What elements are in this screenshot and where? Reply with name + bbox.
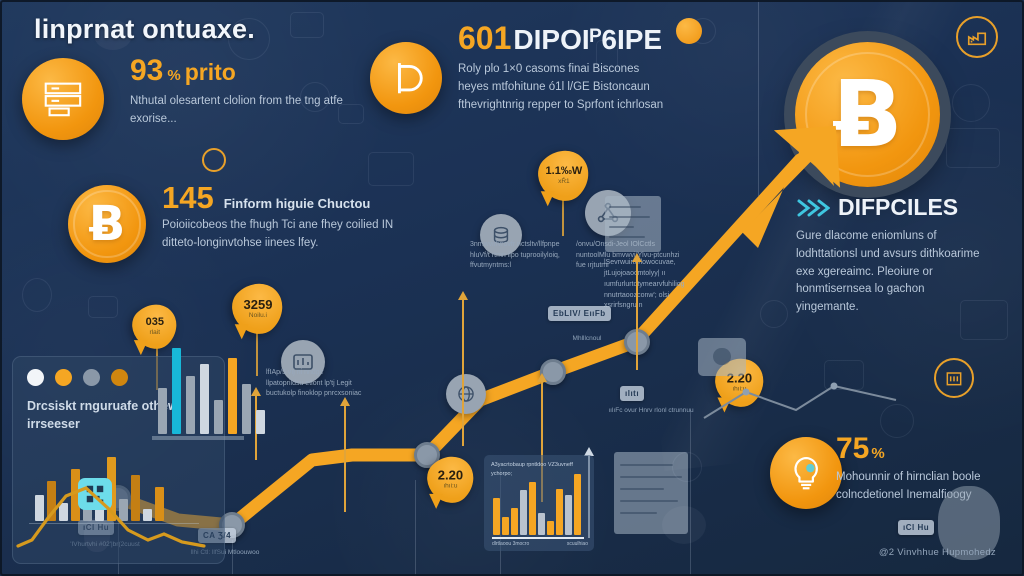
pin-value: 3259 [244, 297, 273, 310]
midchart-bars [493, 481, 581, 535]
mid-bar-chart-card: A3yacrtobaup rpntldoo VZ3uvneff ychorpo;… [484, 455, 594, 551]
pin-content: 3259 Noilu.i [244, 297, 273, 318]
report-doc-icon [614, 452, 688, 534]
ghost-icon-lock [760, 300, 788, 328]
side-bar-baseline [152, 436, 244, 440]
stat-93-percent: % [167, 67, 180, 84]
stat-601-headline: 601 DIPOIᴾ6IPE [458, 22, 670, 54]
hero-bitcoin-coin[interactable]: Ƀ [795, 42, 940, 187]
pin-content: 2.20 ıhıi:u [438, 469, 463, 490]
doc-line [620, 476, 682, 478]
panel-legend [27, 369, 128, 386]
mid-bar [502, 517, 509, 535]
infographic-canvas: linprnat ontuaxe. Ƀ 93 [0, 0, 1024, 576]
difficulties-headline: DIFPCILES [796, 196, 996, 219]
timeline-arrow-5 [636, 260, 638, 370]
chip-sub-3: Mhlllcnoul [542, 334, 632, 344]
page-title: linprnat ontuaxe. [34, 14, 255, 45]
stat-145-head: Finform higuie Chuctou [224, 196, 371, 211]
bitcoin-coin-145[interactable]: Ƀ [68, 185, 146, 263]
stat-93-number: 93 [130, 56, 163, 86]
stat-block-93: 93 % prito Nthutal olesartent clolion fr… [130, 56, 360, 129]
pin-content: 1.1‰W xŔ1 [546, 166, 583, 185]
pin-content: 035 rlait [146, 316, 164, 335]
doc-line [609, 226, 634, 228]
midchart-axis [492, 537, 584, 539]
timeline-arrow-2 [344, 404, 346, 512]
legend-dot-2[interactable] [55, 369, 72, 386]
mid-bar [538, 513, 545, 535]
side-bar [228, 358, 237, 434]
lightbulb-idea-icon [786, 453, 826, 493]
ghost-icon-page [368, 152, 414, 186]
ghost-icon-monitor [946, 128, 1000, 168]
ring-badge-top-right [956, 16, 998, 58]
timeline-tick-3 [415, 480, 416, 576]
pin-subtext: ıhıi:u [438, 483, 463, 490]
legend-dot-4[interactable] [111, 369, 128, 386]
pin-subtext: xŔ1 [546, 178, 583, 185]
timeline-arrow-3 [462, 298, 464, 446]
milestone-caption-2: 3nmwvirlvrovfr nctsltv/llfpnpe hluVf/t r… [470, 240, 566, 272]
doc-line [620, 512, 657, 514]
lightbulb-idea-icon-coin[interactable] [770, 437, 842, 509]
side-bar [186, 376, 195, 434]
pin-subtext: Noilu.i [244, 311, 273, 318]
document-coin-icon[interactable] [370, 42, 442, 114]
server-rack-icon-coin[interactable] [22, 58, 104, 140]
stat-93-body: Nthutal olesartent clolion from the tng … [130, 93, 360, 129]
mid-bar [529, 482, 536, 535]
panel-line-chart [14, 474, 214, 566]
pin-value: 1.1‰W [546, 166, 583, 177]
pin-value: 035 [146, 316, 164, 327]
side-bar [200, 364, 209, 434]
coin-inner-ring [805, 52, 930, 177]
mid-bar [511, 508, 518, 535]
mid-bar [493, 498, 500, 535]
doc-card-icon [605, 196, 661, 252]
doc-line [609, 216, 649, 218]
document-icon [386, 58, 426, 98]
panel-line-path [18, 488, 204, 546]
ghost-icon-laptop [88, 296, 118, 318]
chip-label-3[interactable]: EbLlV/ EııFb [548, 306, 611, 321]
stat-93-head: prito [185, 61, 236, 84]
timeline-tick-5 [758, 0, 759, 196]
server-rack-icon [40, 76, 86, 122]
stat-93-headline: 93 % prito [130, 56, 360, 86]
stat-block-difficulties: DIFPCILES Gure dlacome eniomluns of lodh… [796, 196, 996, 317]
globe-icon [456, 384, 476, 404]
doc-line [620, 464, 673, 466]
factory-icon [966, 26, 988, 48]
ghost-icon-gear [952, 84, 990, 122]
ghost-icon-leaf [22, 278, 52, 312]
doc-line [620, 488, 664, 490]
camera-lens-icon [713, 348, 730, 365]
pin-stem-3 [562, 196, 564, 236]
chip-label-5[interactable]: ıCl Hu [898, 520, 934, 535]
stat-145-number: 145 [162, 182, 214, 213]
legend-dot-1[interactable] [27, 369, 44, 386]
doc-line [609, 206, 640, 208]
stat-75-headline: 75 % [836, 434, 1016, 464]
doc-card-caption: lSevrwuirto/lowocuvae, jtLujojoaocmtolyy… [604, 258, 708, 312]
difficulties-body: Gure dlacome eniomluns of lodhttationsl … [796, 228, 986, 317]
difficulties-title: DIFPCILES [838, 196, 958, 219]
vehicle-ghost-icon [700, 370, 900, 430]
midchart-legend-right: scuulhiao [567, 541, 588, 547]
side-bar-chart [158, 340, 265, 434]
chip-sub-4: ıılıFc ovur Hnrv rlonl ctrunnuu [606, 406, 696, 416]
stat-145-body: Poioiicobeos the fhugh Tci ane fhey coil… [162, 217, 398, 253]
ghost-icon-card [290, 12, 324, 38]
stat-601-head: DIPOIᴾ6IPE [513, 26, 662, 54]
side-bar [214, 400, 223, 434]
footer-note: @2 Vinvhhue Hupmohedz [879, 547, 996, 558]
ring-badge-small [202, 148, 226, 172]
ring-badge-bottom-right [934, 358, 974, 398]
milestone-icon-4[interactable] [446, 374, 486, 414]
stat-75-number: 75 [836, 434, 869, 464]
stat-block-145: 145 Finform higuie Chuctou Poioiicobeos … [162, 182, 398, 253]
coin-inner-ring [73, 190, 140, 257]
side-bar [242, 384, 251, 434]
midchart-legend-left: dlrtlaoou 3mocro [492, 541, 529, 547]
pin-marker-1[interactable]: 3259 Noilu.i [223, 273, 294, 344]
side-bar [158, 388, 167, 434]
mid-bar [520, 490, 527, 535]
doc-line [609, 236, 645, 238]
legend-dot-3[interactable] [83, 369, 100, 386]
milestone-caption-1: lfIAp/5 vıj ni nndgir llpatoprildsu etlo… [266, 368, 362, 400]
pin-value: 2.20 [438, 469, 463, 482]
stat-75-percent: % [871, 445, 884, 462]
building-icon [944, 368, 964, 388]
side-bar [256, 410, 265, 434]
mid-bar [547, 521, 554, 535]
timeline-tick-6 [690, 410, 691, 576]
stat-601-body: Roly plo 1×0 casoms finai Biscones heyes… [458, 61, 670, 114]
doc-line [620, 500, 678, 502]
chevron-stack-icon [796, 197, 830, 219]
mid-bar [556, 489, 563, 535]
mid-bar [574, 474, 581, 535]
chip-label-4[interactable]: ılıtı [620, 386, 644, 401]
mid-bar [565, 495, 572, 535]
stat-block-601: 601 DIPOIᴾ6IPE Roly plo 1×0 casoms finai… [458, 22, 670, 114]
accent-dot-top [676, 18, 702, 44]
side-bar [172, 348, 181, 434]
stat-601-number: 601 [458, 22, 511, 54]
stat-145-headline: 145 Finform higuie Chuctou [162, 182, 398, 213]
timeline-tick-2 [232, 540, 233, 576]
pin-subtext: rlait [146, 328, 164, 335]
